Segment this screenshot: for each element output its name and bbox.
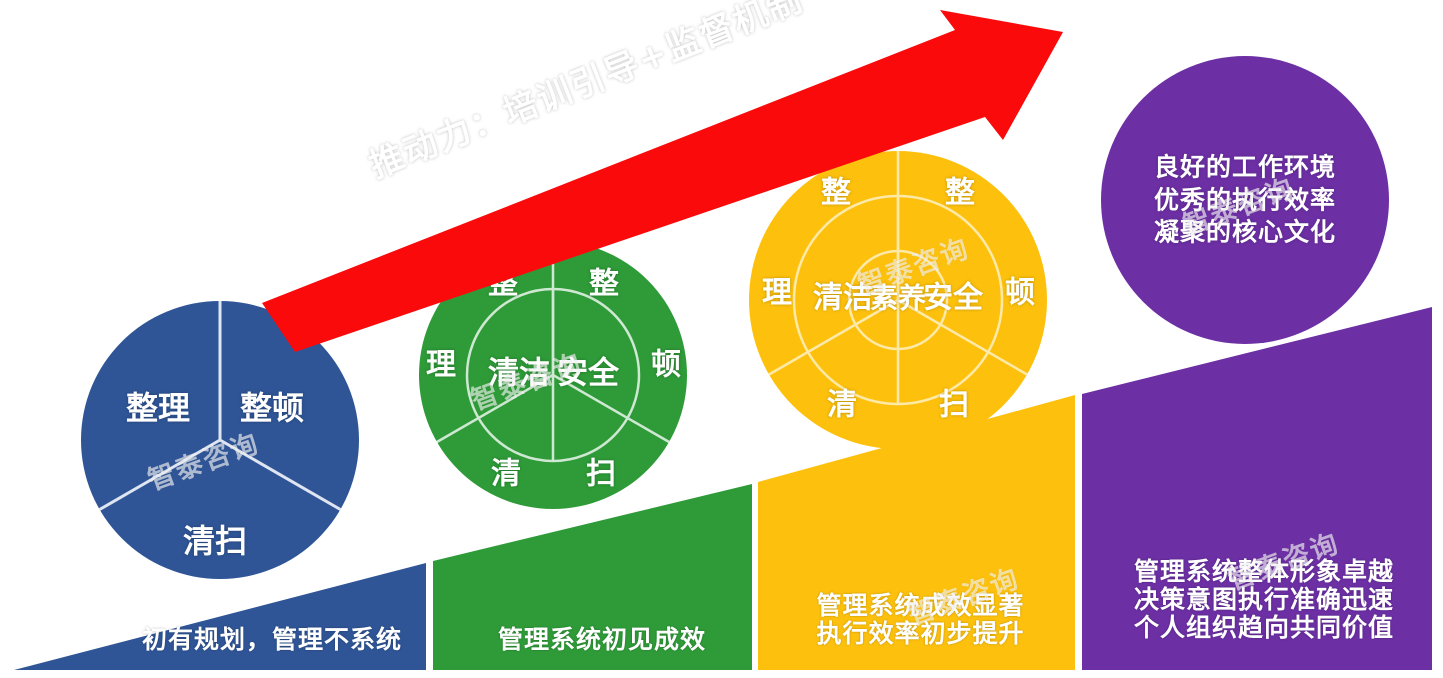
driver-arrow[interactable] [0,0,1443,678]
infographic-canvas: 整理 整顿 清扫 整 整 理 顿 清 [0,0,1443,678]
arrow-shape [262,10,1063,352]
